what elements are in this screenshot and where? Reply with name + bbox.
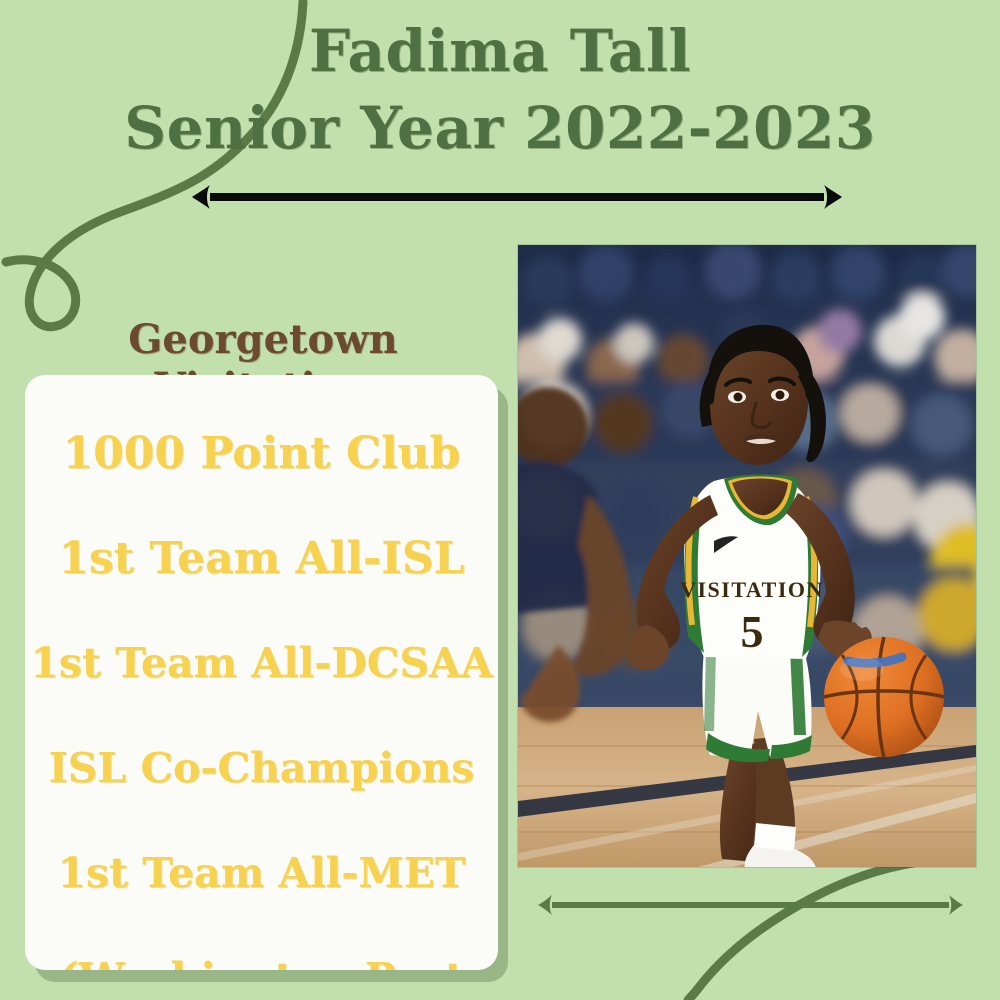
list-item: 1st Team All-DCSAA — [25, 611, 498, 716]
accolades-card: 1000 Point Club 1st Team All-ISL 1st Tea… — [25, 375, 498, 970]
page-title: Fadima Tall — [0, 14, 1000, 88]
svg-text:5: 5 — [741, 606, 764, 657]
poster-canvas: Fadima Tall Senior Year 2022-2023 George… — [0, 0, 1000, 1000]
accolades-list: 1000 Point Club 1st Team All-ISL 1st Tea… — [25, 401, 498, 970]
title-block: Fadima Tall Senior Year 2022-2023 — [0, 14, 1000, 168]
list-item: 1000 Point Club — [25, 401, 498, 506]
player-photo-graphic: VISITATION 5 — [518, 245, 976, 867]
player-photo: VISITATION 5 — [518, 245, 976, 867]
list-item: 1st Team All-MET — [25, 821, 498, 926]
list-item: ISL Co-Champions — [25, 716, 498, 821]
svg-text:VISITATION: VISITATION — [680, 577, 824, 602]
list-item: 1st Team All-ISL — [25, 506, 498, 611]
page-subtitle: Senior Year 2022-2023 — [0, 88, 1000, 168]
title-divider — [192, 180, 842, 214]
list-item: (Washington Post — [25, 926, 498, 970]
bottom-divider — [538, 888, 963, 922]
